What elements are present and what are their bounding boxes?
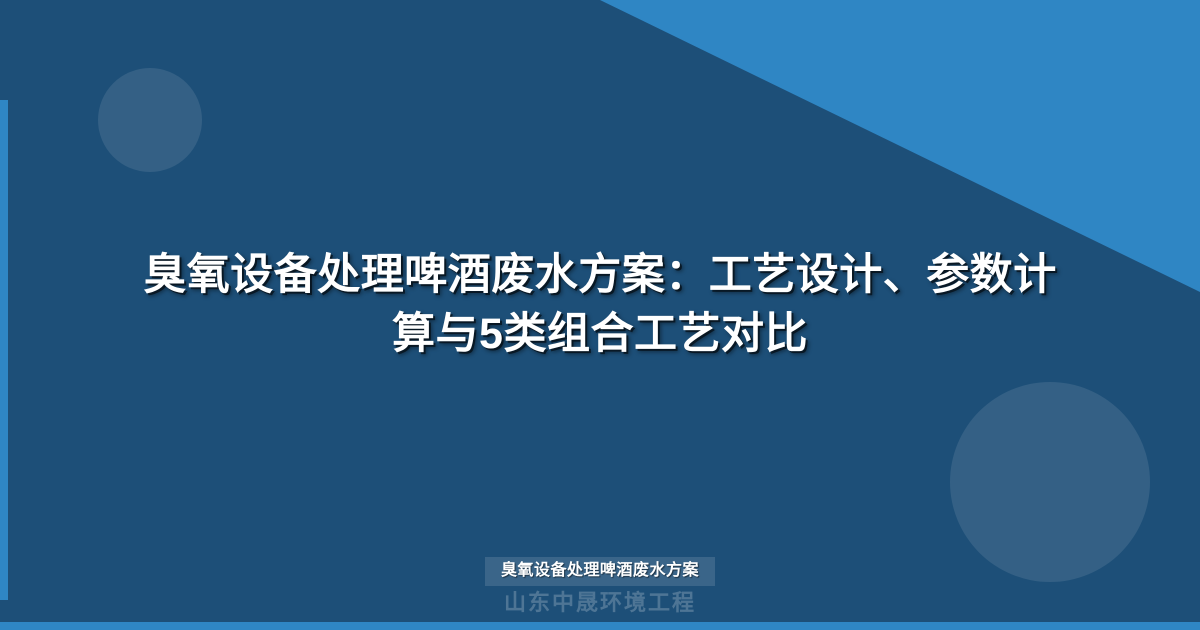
- footer-topic-badge: 臭氧设备处理啤酒废水方案: [485, 557, 715, 586]
- title-slide: 臭氧设备处理啤酒废水方案：工艺设计、参数计算与5类组合工艺对比 臭氧设备处理啤酒…: [0, 0, 1200, 630]
- bottom-edge-accent-bar: [0, 622, 1200, 630]
- decorative-circle-bottom-right: [950, 382, 1150, 582]
- footer-branding: 臭氧设备处理啤酒废水方案 山东中晟环境工程: [0, 557, 1200, 616]
- left-edge-accent-bar: [0, 100, 8, 600]
- footer-company-watermark: 山东中晟环境工程: [504, 590, 696, 616]
- decorative-circle-top-left: [98, 68, 202, 172]
